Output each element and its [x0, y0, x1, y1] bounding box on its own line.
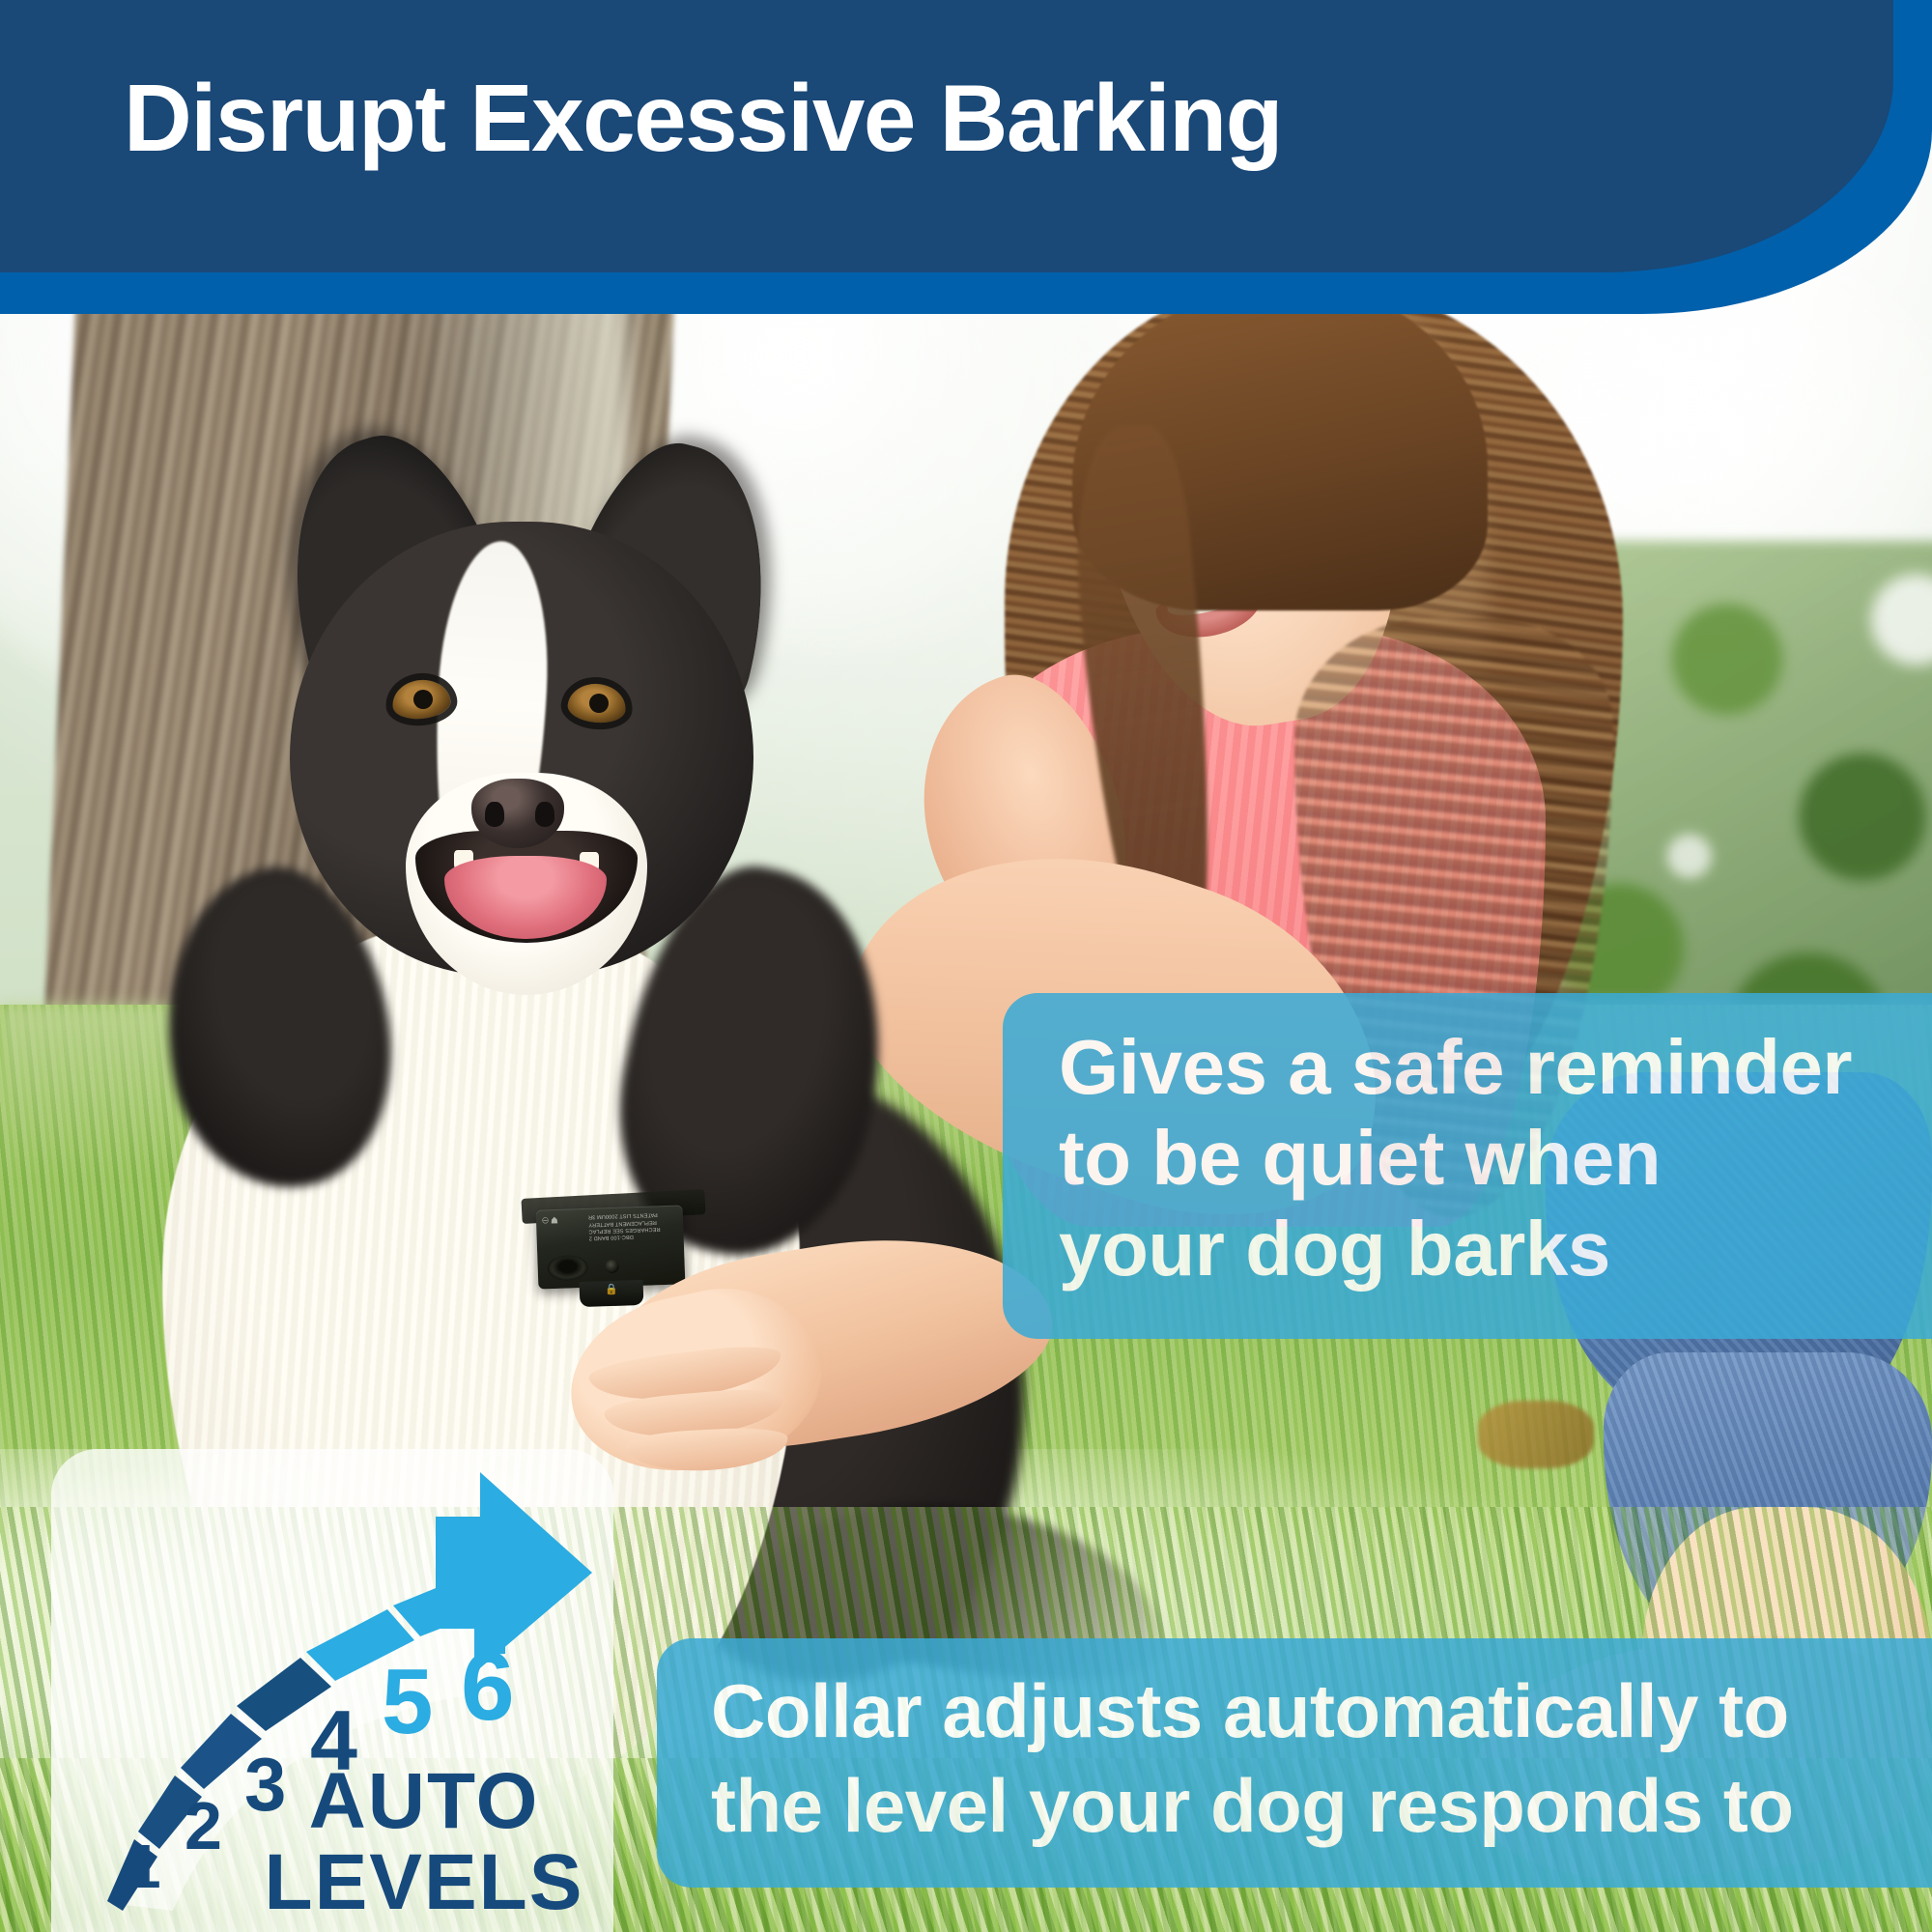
feature-callout-reminder: Gives a safe reminder to be quiet when y…	[1003, 993, 1932, 1339]
dog-pupil	[589, 694, 609, 713]
badge-label: AUTO LEVELS	[244, 1762, 604, 1924]
callout-line: to be quiet when	[1059, 1113, 1932, 1204]
lock-icon: 🔒	[605, 1285, 618, 1295]
collar-legend-text: DBC-100 BAND 2 RECHARGES SEE REPLAC REPL…	[588, 1210, 678, 1241]
bark-collar-receiver: ⛊ ⊖ DBC-100 BAND 2 RECHARGES SEE REPLAC …	[536, 1205, 686, 1289]
dog-nostril	[485, 802, 504, 827]
badge-label-line-2: LEVELS	[244, 1841, 604, 1924]
callout-line: Collar adjusts automatically to	[711, 1663, 1932, 1758]
level-number-6: 6	[461, 1638, 515, 1735]
speaker-icon	[547, 1255, 588, 1281]
auto-levels-badge: 1 2 3 4 5 6 AUTO LEVELS	[51, 1449, 613, 1932]
product-feature-image: ⛊ ⊖ DBC-100 BAND 2 RECHARGES SEE REPLAC …	[0, 0, 1932, 1932]
callout-line: the level your dog responds to	[711, 1758, 1932, 1853]
dog-pupil	[413, 690, 433, 709]
feature-callout-auto-adjust: Collar adjusts automatically to the leve…	[657, 1638, 1932, 1888]
level-number-2: 2	[185, 1792, 222, 1860]
dog-leash	[1478, 1401, 1594, 1468]
contact-probe-icon	[605, 1260, 618, 1273]
callout-line: your dog barks	[1059, 1204, 1932, 1294]
page-title: Disrupt Excessive Barking	[124, 66, 1573, 170]
dog-nostril	[535, 802, 554, 827]
level-number-1: 1	[127, 1835, 161, 1897]
level-number-5: 5	[382, 1656, 433, 1748]
badge-label-line-1: AUTO	[244, 1762, 604, 1841]
compliance-icons: ⛊ ⊖	[542, 1215, 558, 1226]
callout-line: Gives a safe reminder	[1059, 1022, 1932, 1113]
